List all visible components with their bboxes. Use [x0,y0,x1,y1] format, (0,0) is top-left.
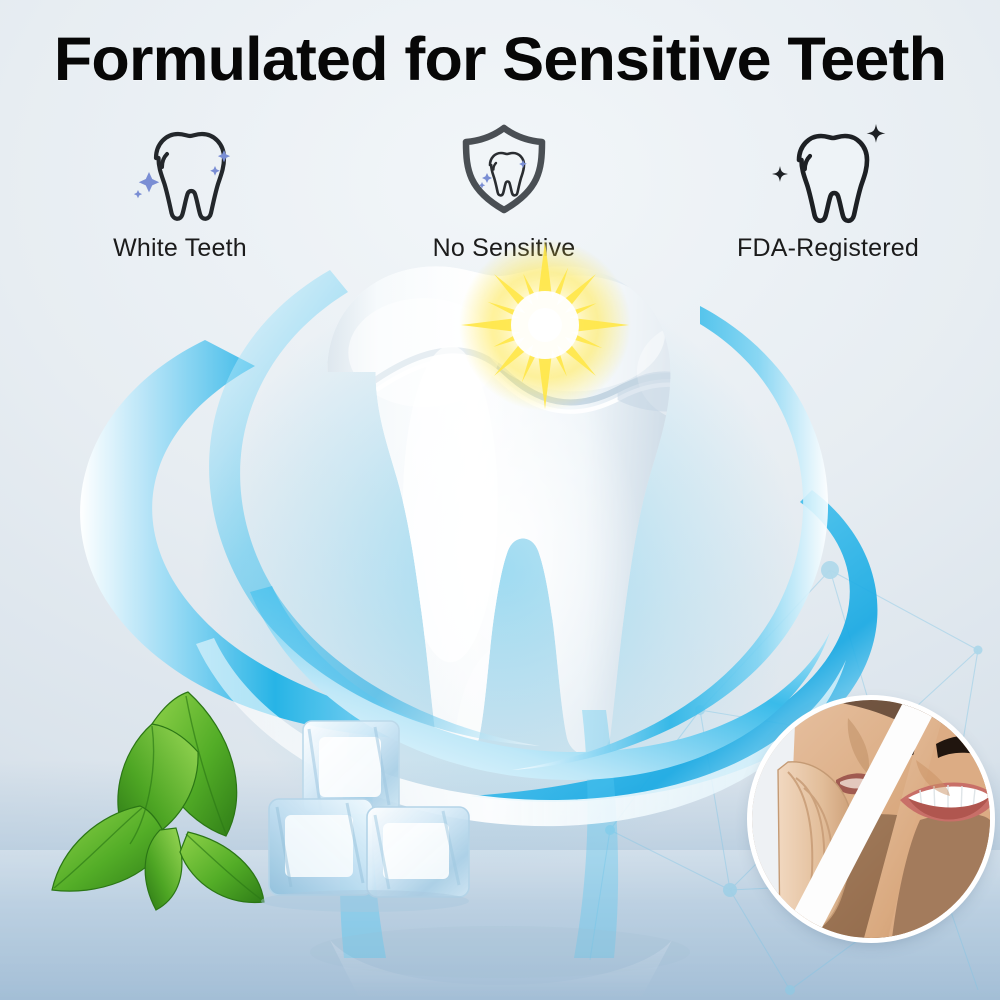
shield-tooth-icon [449,118,559,230]
tooth-reflection [310,926,690,1000]
tooth-outline-sparkle-icon [120,118,240,230]
photo-artwork [752,700,990,938]
tooth-outline-star-icon [753,118,903,230]
product-banner: Formulated for Sensitive Teeth White Tee… [0,0,1000,1000]
page-title: Formulated for Sensitive Teeth [0,29,1000,90]
before-after-circle-photo[interactable] [752,700,990,938]
ice-cubes-icon [225,715,505,915]
